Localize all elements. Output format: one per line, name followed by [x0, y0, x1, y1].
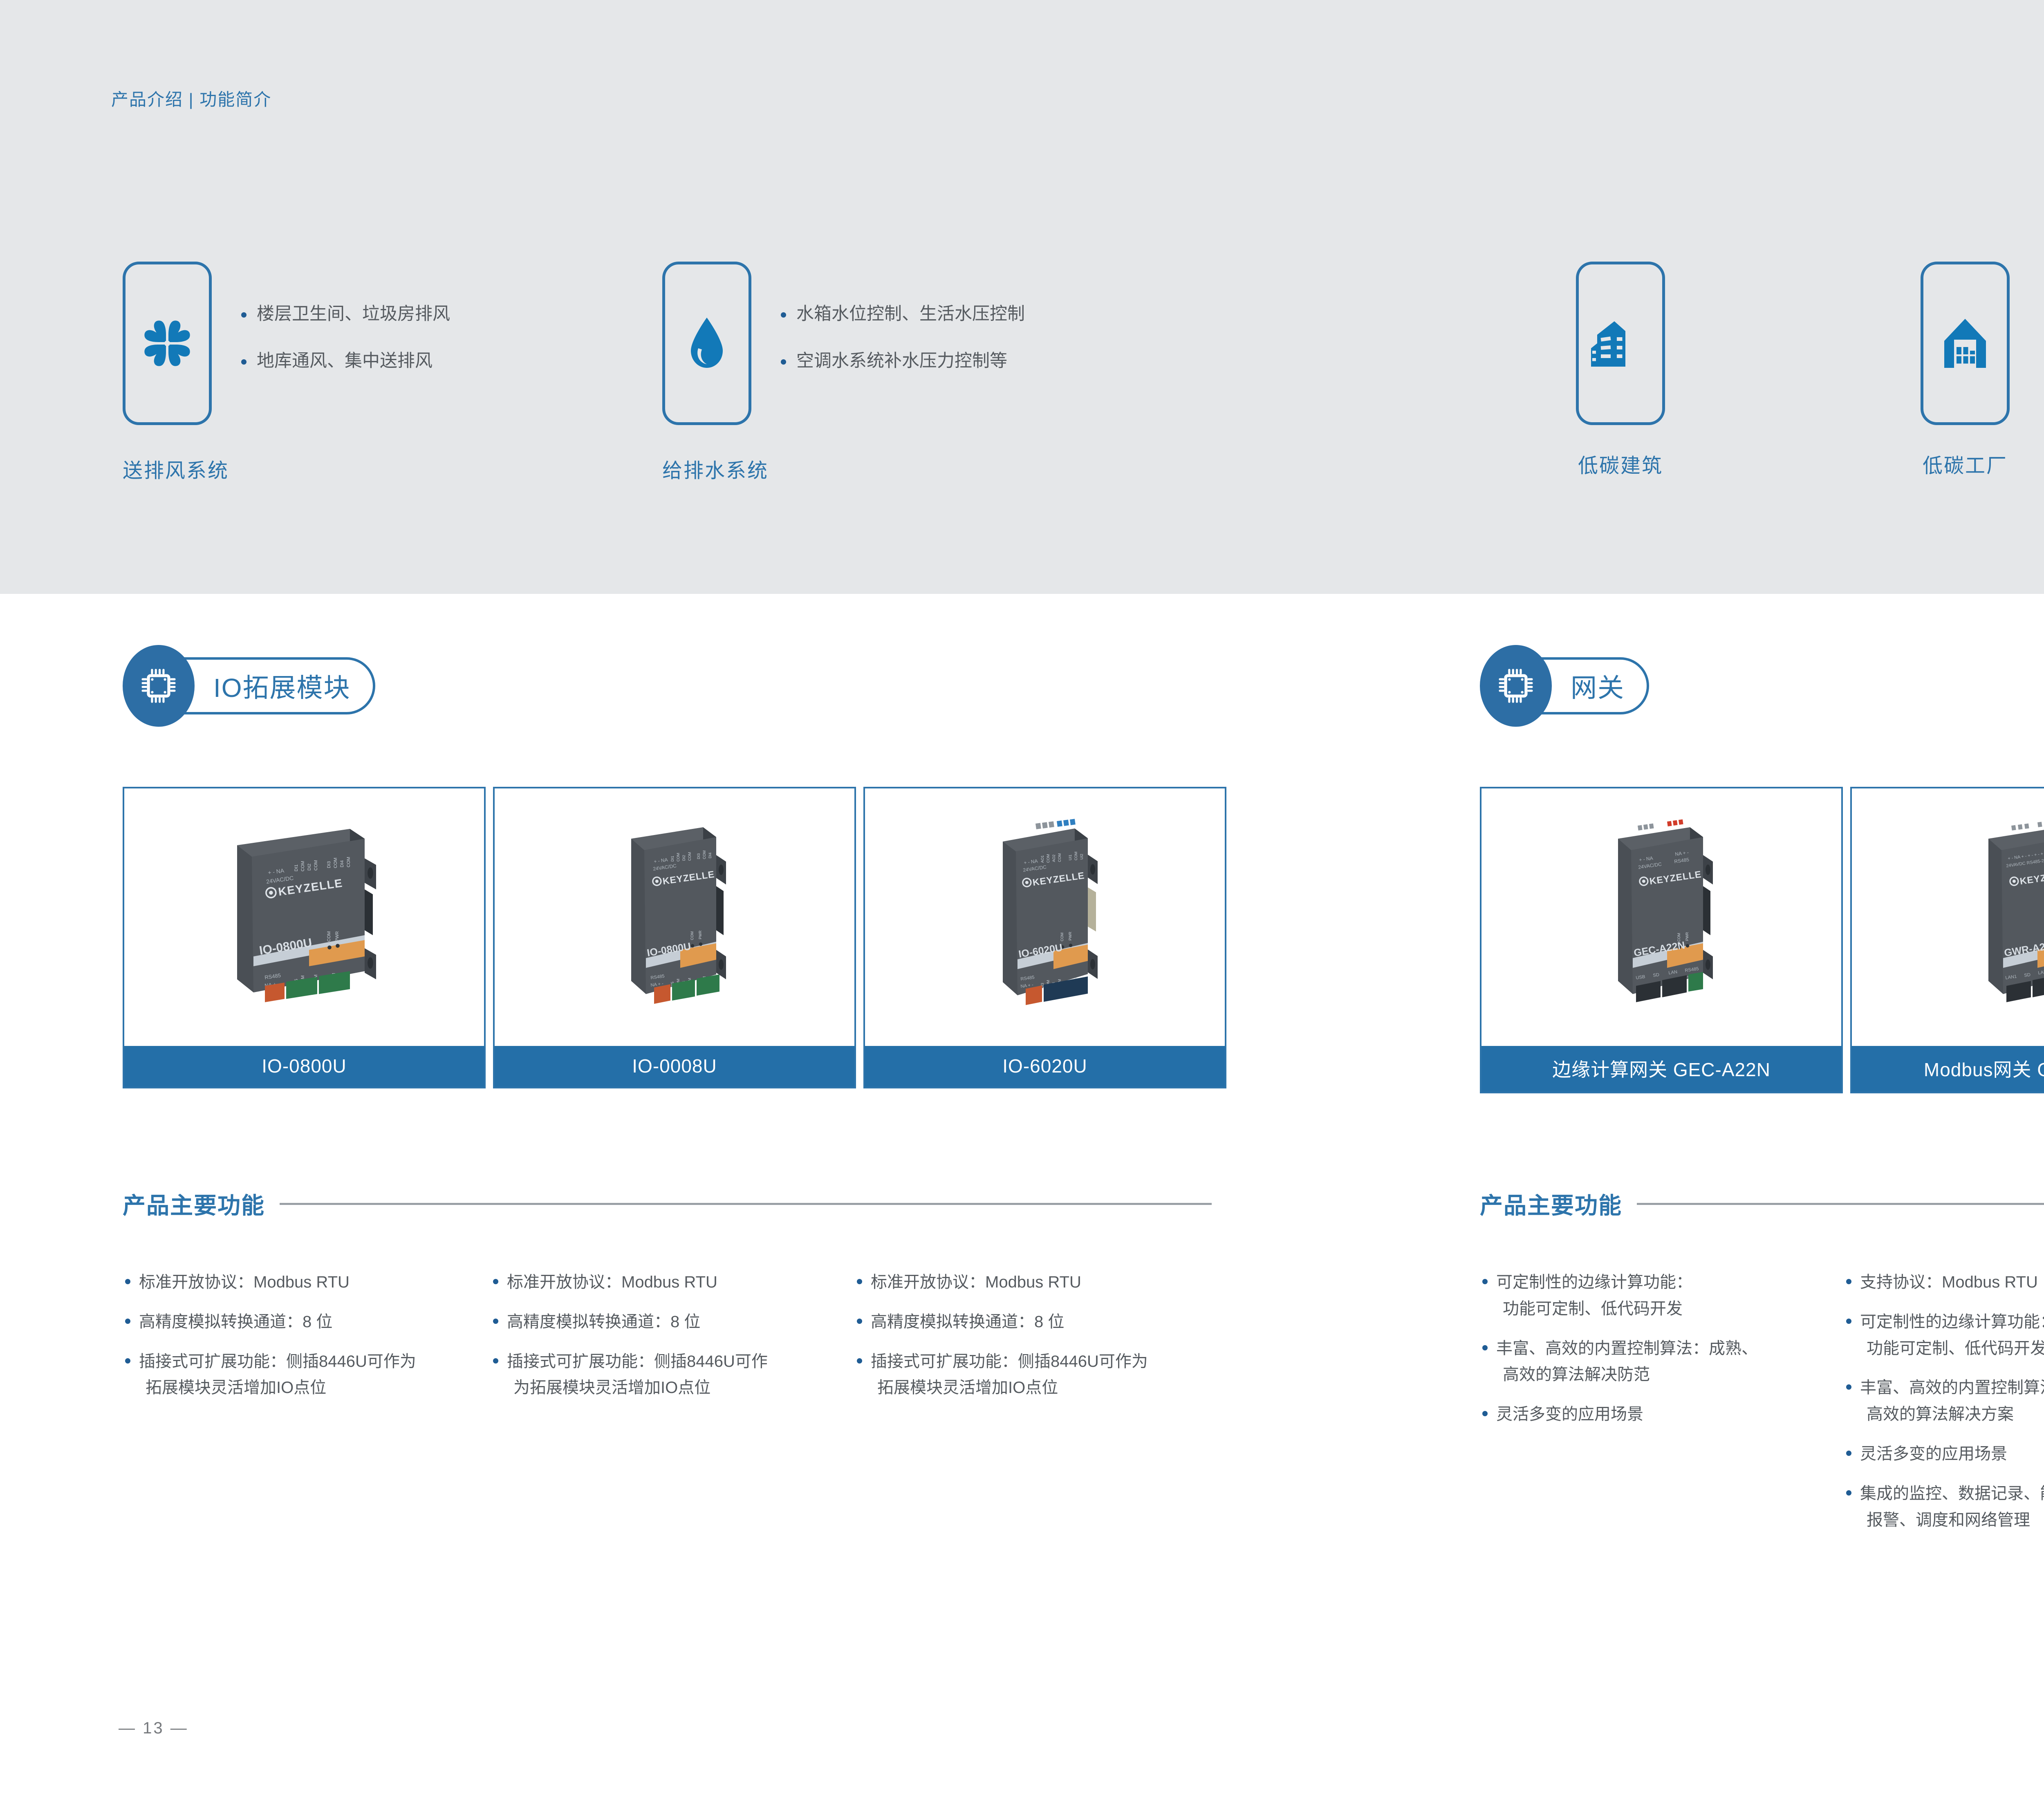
svg-text:DI1: DI1 — [670, 856, 675, 862]
product-card[interactable]: + - NA 24VAC/DC NA + - RS485 COM PWR USB… — [1480, 787, 1843, 1093]
section-badge-gateway: 网关 — [1480, 645, 1649, 727]
svg-text:COM: COM — [314, 860, 318, 871]
features-title: 产品主要功能 — [123, 1187, 265, 1220]
product-card[interactable]: + - NA 24VAC/DC DI1 COM DI2 COM DI3 COM … — [123, 787, 486, 1088]
scenario-label: 低碳建筑 — [1578, 450, 1663, 479]
feature-text: 标准开放协议：Modbus RTU — [507, 1273, 717, 1291]
list-item: 空调水系统补水压力控制等 — [778, 351, 1025, 371]
svg-text:COM: COM — [1046, 854, 1050, 863]
feature-text: 可定制性的边缘计算功能： — [1860, 1313, 2044, 1331]
list-item: 支持协议：Modbus RTU — [1844, 1269, 2044, 1296]
feature-columns-gateway: 可定制性的边缘计算功能： 功能可定制、低代码开发 丰富、高效的内置控制算法：成熟… — [1480, 1269, 2044, 1533]
product-image: + - NA 24VAC/DC NA + - RS485 COM PWR USB… — [1481, 788, 1841, 1046]
product-image: + - NA 24VAC/DC DI1 COM DI2 COM DI3 COM … — [495, 788, 854, 1046]
svg-text:SD: SD — [2024, 972, 2031, 978]
svg-text:DI4: DI4 — [708, 853, 712, 858]
running-head-left: 产品介绍 | 功能简介 — [111, 86, 271, 111]
page-number-left: — 13 — — [119, 1719, 188, 1738]
list-item: 插接式可扩展功能：侧插8446U可作 为拓展模块灵活增加IO点位 — [491, 1348, 854, 1402]
svg-text:DI3: DI3 — [697, 853, 701, 859]
svg-text:DI4: DI4 — [340, 860, 345, 867]
svg-text:COM: COM — [1058, 853, 1062, 862]
list-item: 集成的监控、数据记录、能耗计量、 报警、调度和网络管理 — [1844, 1480, 2044, 1534]
product-cards-io: + - NA 24VAC/DC DI1 COM DI2 COM DI3 COM … — [123, 787, 1226, 1088]
svg-text:COM: COM — [1074, 852, 1078, 860]
list-item: 灵活多变的应用场景 — [1844, 1441, 2044, 1467]
svg-text:COM: COM — [346, 857, 351, 867]
svg-text:DI2: DI2 — [682, 855, 686, 861]
features-header-gateway: 产品主要功能 — [1480, 1187, 2044, 1220]
svg-text:PWR: PWR — [1685, 932, 1689, 941]
svg-text:DI1: DI1 — [294, 864, 299, 871]
product-caption: Modbus网关 GWR-A25N — [1852, 1046, 2044, 1092]
feature-text: 丰富、高效的内置控制算法：成熟、 — [1496, 1339, 1758, 1357]
list-item: 地库通风、集中送排风 — [238, 351, 450, 371]
scenario-ventilation: 楼层卫生间、垃圾房排风 地库通风、集中送排风 — [123, 262, 450, 425]
svg-text:COM: COM — [333, 858, 338, 868]
fan-icon — [123, 262, 212, 425]
svg-text:COM: COM — [688, 852, 692, 861]
svg-text:COM: COM — [1060, 933, 1064, 941]
section-badge-label: IO拓展模块 — [213, 667, 351, 705]
feature-text: 插接式可扩展功能：侧插8446U可作 — [507, 1352, 768, 1370]
section-badge-label: 网关 — [1571, 667, 1625, 705]
water-drop-icon — [662, 262, 751, 425]
feature-text: 灵活多变的应用场景 — [1496, 1405, 1643, 1423]
feature-text: 高精度模拟转换通道：8 位 — [507, 1313, 700, 1331]
feature-text-cont: 高效的算法解决防范 — [1496, 1361, 1844, 1388]
feature-column: 标准开放协议：Modbus RTU 高精度模拟转换通道：8 位 插接式可扩展功能… — [123, 1269, 491, 1401]
product-card[interactable]: + - NA 24VAC/DC AO1 COM AO2 COM UI1 COM … — [863, 787, 1226, 1088]
list-item: 高精度模拟转换通道：8 位 — [491, 1309, 854, 1335]
feature-text-cont: 为拓展模块灵活增加IO点位 — [507, 1375, 854, 1401]
feature-text-cont: 功能可定制、低代码开发 — [1860, 1335, 2044, 1362]
product-caption: IO-0800U — [124, 1046, 484, 1087]
scenario-ventilation-bullets: 楼层卫生间、垃圾房排风 地库通风、集中送排风 — [238, 262, 450, 372]
svg-text:SD: SD — [1653, 972, 1660, 978]
feature-text: 插接式可扩展功能：侧插8446U可作为 — [871, 1352, 1148, 1370]
feature-text: 丰富、高效的内置控制算法：成熟、 — [1860, 1379, 2044, 1397]
feature-text: 集成的监控、数据记录、能耗计量、 — [1860, 1485, 2044, 1502]
divider-rule — [280, 1203, 1212, 1205]
feature-text: 标准开放协议：Modbus RTU — [139, 1273, 350, 1291]
feature-text: 可定制性的边缘计算功能： — [1496, 1273, 1692, 1291]
chip-icon — [123, 645, 195, 727]
product-image: + - NA 24VAC/DC DI1 COM DI2 COM DI3 COM … — [124, 788, 484, 1046]
list-item: 标准开放协议：Modbus RTU — [491, 1269, 854, 1296]
feature-column: 支持协议：Modbus RTU 可定制性的边缘计算功能： 功能可定制、低代码开发… — [1844, 1269, 2044, 1533]
feature-text: 标准开放协议：Modbus RTU — [871, 1273, 1081, 1291]
feature-text: 高精度模拟转换通道：8 位 — [139, 1313, 332, 1331]
list-item: 水箱水位控制、生活水压控制 — [778, 304, 1025, 324]
svg-text:DI2: DI2 — [307, 864, 312, 871]
svg-text:UI1: UI1 — [1068, 855, 1072, 860]
feature-text-cont: 拓展模块灵活增加IO点位 — [139, 1375, 491, 1401]
list-item: 插接式可扩展功能：侧插8446U可作为 拓展模块灵活增加IO点位 — [854, 1348, 1218, 1402]
product-image: + - NA 24VAC/DC AO1 COM AO2 COM UI1 COM … — [865, 788, 1225, 1046]
features-header-io: 产品主要功能 — [123, 1187, 1212, 1220]
svg-text:COM: COM — [327, 931, 332, 942]
product-cards-gateway: + - NA 24VAC/DC NA + - RS485 COM PWR USB… — [1480, 787, 2044, 1093]
scenario-ventilation-label: 送排风系统 — [123, 455, 229, 484]
list-item: 丰富、高效的内置控制算法：成熟、 高效的算法解决方案 — [1844, 1375, 2044, 1428]
feature-column: 标准开放协议：Modbus RTU 高精度模拟转换通道：8 位 插接式可扩展功能… — [491, 1269, 854, 1401]
list-item: 可定制性的边缘计算功能： 功能可定制、低代码开发 — [1844, 1309, 2044, 1362]
scenario-water: 水箱水位控制、生活水压控制 空调水系统补水压力控制等 — [662, 262, 1025, 425]
svg-text:PWR: PWR — [698, 930, 702, 939]
product-caption: IO-0008U — [495, 1046, 854, 1087]
list-item: 楼层卫生间、垃圾房排风 — [238, 304, 450, 324]
feature-text: 灵活多变的应用场景 — [1860, 1445, 2007, 1463]
list-item: 丰富、高效的内置控制算法：成熟、 高效的算法解决防范 — [1480, 1335, 1844, 1388]
list-item: 插接式可扩展功能：侧插8446U可作为 拓展模块灵活增加IO点位 — [123, 1348, 491, 1402]
scenario-label: 低碳工厂 — [1923, 450, 2008, 479]
svg-text:COM: COM — [702, 851, 706, 859]
divider-rule — [1637, 1203, 2044, 1205]
product-caption: 边缘计算网关 GEC-A22N — [1481, 1046, 1841, 1092]
feature-columns-io: 标准开放协议：Modbus RTU 高精度模拟转换通道：8 位 插接式可扩展功能… — [123, 1269, 1218, 1401]
list-item: 标准开放协议：Modbus RTU — [854, 1269, 1218, 1296]
feature-text: 支持协议：Modbus RTU — [1860, 1273, 2038, 1291]
office-building-icon — [1576, 262, 1665, 425]
svg-text:COM: COM — [676, 853, 680, 862]
product-caption: IO-6020U — [865, 1046, 1225, 1087]
list-item: 灵活多变的应用场景 — [1480, 1401, 1844, 1428]
svg-text:DI3: DI3 — [327, 861, 332, 868]
svg-text:PWR: PWR — [335, 931, 340, 942]
chip-icon — [1480, 645, 1552, 727]
features-title: 产品主要功能 — [1480, 1187, 1622, 1220]
product-card[interactable]: + - NA + - + - + - + - 24VAVDC RS485-2 R… — [1850, 787, 2044, 1093]
scenario-water-bullets: 水箱水位控制、生活水压控制 空调水系统补水压力控制等 — [778, 262, 1025, 372]
list-item: 可定制性的边缘计算功能： 功能可定制、低代码开发 — [1480, 1269, 1844, 1322]
scenario-low-carbon-factory: 低碳工厂 — [1921, 262, 2010, 425]
factory-icon — [1921, 262, 2010, 425]
feature-text-cont: 拓展模块灵活增加IO点位 — [871, 1375, 1218, 1401]
feature-column: 标准开放协议：Modbus RTU 高精度模拟转换通道：8 位 插接式可扩展功能… — [854, 1269, 1218, 1401]
feature-text-cont: 功能可定制、低代码开发 — [1496, 1296, 1844, 1322]
scenario-water-label: 给排水系统 — [662, 455, 769, 484]
list-item: 标准开放协议：Modbus RTU — [123, 1269, 491, 1296]
svg-text:AO1: AO1 — [1040, 855, 1044, 863]
feature-text-cont: 报警、调度和网络管理 — [1860, 1507, 2044, 1534]
svg-text:AO2: AO2 — [1052, 855, 1056, 862]
product-image: + - NA + - + - + - + - 24VAVDC RS485-2 R… — [1852, 788, 2044, 1046]
feature-column: 可定制性的边缘计算功能： 功能可定制、低代码开发 丰富、高效的内置控制算法：成熟… — [1480, 1269, 1844, 1533]
feature-text: 插接式可扩展功能：侧插8446U可作为 — [139, 1352, 416, 1370]
svg-text:COM: COM — [690, 931, 694, 940]
svg-text:COM: COM — [300, 861, 305, 871]
scenario-low-carbon-building: 低碳建筑 — [1576, 262, 1665, 425]
list-item: 高精度模拟转换通道：8 位 — [854, 1309, 1218, 1335]
svg-text:UI2: UI2 — [1080, 854, 1084, 860]
list-item: 高精度模拟转换通道：8 位 — [123, 1309, 491, 1335]
product-card[interactable]: + - NA 24VAC/DC DI1 COM DI2 COM DI3 COM … — [493, 787, 856, 1088]
feature-text-cont: 高效的算法解决方案 — [1860, 1401, 2044, 1428]
section-badge-io-modules: IO拓展模块 — [123, 645, 375, 727]
svg-text:PWR: PWR — [1068, 931, 1072, 940]
feature-text: 高精度模拟转换通道：8 位 — [871, 1313, 1064, 1331]
